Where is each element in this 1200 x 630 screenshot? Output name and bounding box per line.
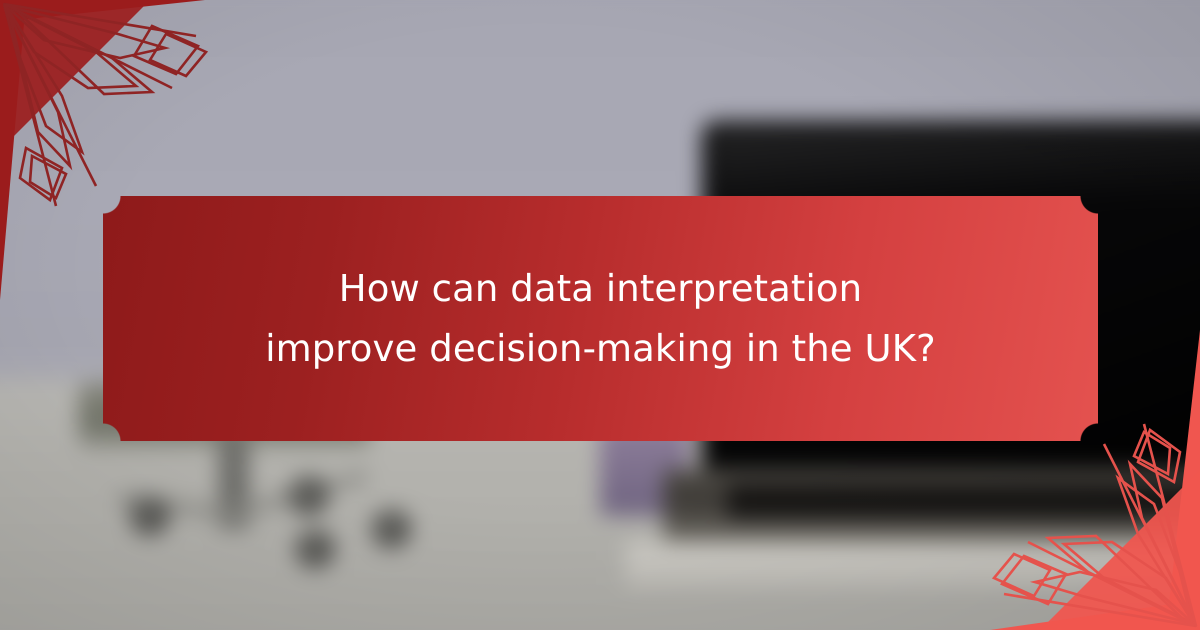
title-banner: How can data interpretation improve deci… — [103, 196, 1098, 441]
social-card: How can data interpretation improve deci… — [0, 0, 1200, 630]
page-title: How can data interpretation improve deci… — [261, 259, 941, 379]
